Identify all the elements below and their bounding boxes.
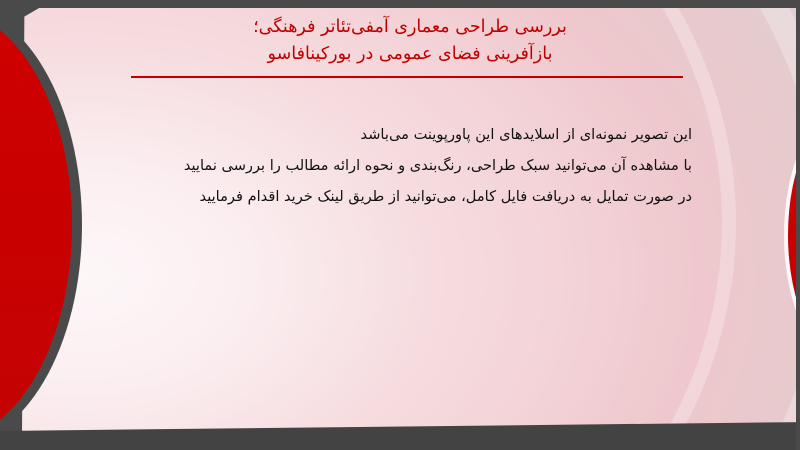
background-band-5 <box>22 8 722 440</box>
slide-body-text: این تصویر نمونه‌ای از اسلایدهای این پاور… <box>52 119 692 212</box>
slide-title: بررسی طراحی معماری آمفی‌تئاتر فرهنگی؛ با… <box>110 14 710 68</box>
background-band-6 <box>22 8 800 440</box>
presentation-slide: بررسی طراحی معماری آمفی‌تئاتر فرهنگی؛ با… <box>0 0 800 450</box>
slide-frame-right-edge <box>796 0 800 450</box>
slide-title-line-1: بررسی طراحی معماری آمفی‌تئاتر فرهنگی؛ <box>110 14 710 41</box>
slide-body-line-3: در صورت تمایل به دریافت فایل کامل، می‌تو… <box>52 181 692 212</box>
slide-body-line-2: با مشاهده آن می‌توانید سبک طراحی، رنگ‌بن… <box>52 150 692 181</box>
title-underline-rule <box>131 76 683 78</box>
slide-body-line-1: این تصویر نمونه‌ای از اسلایدهای این پاور… <box>52 119 692 150</box>
background-band-2 <box>22 8 800 440</box>
slide-title-line-2: بازآفرینی فضای عمومی در بورکینافاسو <box>110 41 710 68</box>
slide-canvas <box>22 8 800 440</box>
background-band-1 <box>22 8 800 440</box>
background-band-4 <box>22 8 800 440</box>
background-band-3 <box>22 8 800 440</box>
